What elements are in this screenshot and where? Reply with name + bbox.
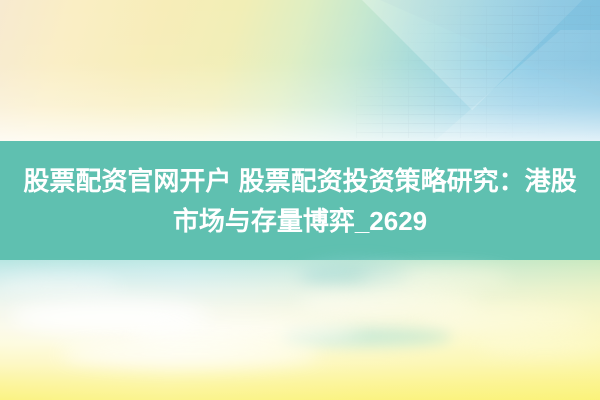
faint-table-texture-watermark xyxy=(356,6,600,138)
sky-warm-overlay xyxy=(0,260,600,400)
banner-title: 股票配资官网开户 股票配资投资策略研究：港股市场与存量博弈_2629 xyxy=(12,161,588,241)
article-banner-image: 股票配资官网开户 股票配资投资策略研究：港股市场与存量博弈_2629 xyxy=(0,0,600,400)
title-band: 股票配资官网开户 股票配资投资策略研究：港股市场与存量博弈_2629 xyxy=(0,141,600,260)
